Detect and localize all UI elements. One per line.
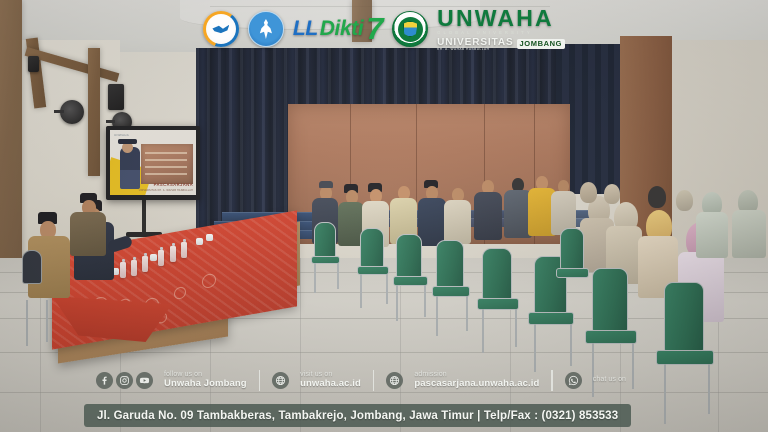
presentation-tv: UNWAHA PASCASARJANA UNIVERSITAS KH. A. W… xyxy=(106,126,200,200)
unwaha-universitas: UNIVERSITAS xyxy=(437,38,513,48)
panel-chair xyxy=(22,250,42,284)
cup xyxy=(206,234,213,241)
tut-wuri-handayani-logo xyxy=(248,11,284,47)
unwaha-tagline: GLOBAL UNIVERSITY xyxy=(437,31,533,35)
admission-url: pascasarjana.unwaha.ac.id xyxy=(414,379,539,389)
social-icon-group[interactable] xyxy=(96,372,153,389)
photo-slide: UNWAHA PASCASARJANA UNIVERSITAS KH. A. W… xyxy=(0,0,768,432)
unwaha-wordmark: UNWAHA GLOBAL UNIVERSITY UNIVERSITAS KH.… xyxy=(437,7,565,50)
contact-divider xyxy=(373,370,374,391)
facebook-icon[interactable] xyxy=(96,372,113,389)
admission-text-group: admission pascasarjana.unwaha.ac.id xyxy=(414,371,539,388)
whatsapp-icon[interactable] xyxy=(565,372,582,389)
social-text-group: follow us on Unwaha Jombang xyxy=(164,371,247,388)
screen-graduate-figure xyxy=(120,147,140,189)
screen-caption: PASCASARJANA xyxy=(154,183,193,187)
contact-bar: follow us on Unwaha Jombang visit us on … xyxy=(96,366,676,394)
website-text-group: visit us on unwaha.ac.id xyxy=(300,371,361,388)
screen-logo-text: UNWAHA xyxy=(114,133,129,137)
screen-graduation-cap xyxy=(118,139,137,144)
cup xyxy=(150,254,157,261)
wall-speaker xyxy=(108,84,124,110)
kampus-merdeka-logo xyxy=(203,11,239,47)
tutwuri-torch-icon xyxy=(258,19,274,39)
header-logo-bar: LLDikti 7 UNWAHA GLOBAL UNIVERSITY UNIVE… xyxy=(0,0,768,58)
lldikti-ll-text: LL xyxy=(293,17,318,41)
tv-screen: UNWAHA PASCASARJANA UNIVERSITAS KH. A. W… xyxy=(110,130,196,195)
cup xyxy=(196,238,203,245)
water-bottle xyxy=(181,242,187,258)
unwaha-title: UNWAHA xyxy=(437,7,554,30)
unwaha-shield-icon xyxy=(403,21,418,37)
water-bottle xyxy=(120,262,126,278)
whatsapp-text-group: chat us on xyxy=(593,376,626,383)
globe-icon[interactable] xyxy=(386,372,403,389)
social-handle: Unwaha Jombang xyxy=(164,379,247,389)
address-text: Jl. Garuda No. 09 Tambakberas, Tambakrej… xyxy=(97,410,618,422)
lldikti-dikti-text: Dikti xyxy=(320,17,364,41)
globe-icon[interactable] xyxy=(272,372,289,389)
contact-divider xyxy=(259,370,260,391)
merdeka-bird-icon xyxy=(212,24,229,35)
tv-stand xyxy=(142,200,146,234)
lldikti-number: 7 xyxy=(366,17,383,42)
water-bottle xyxy=(142,256,148,272)
water-bottle xyxy=(131,260,137,276)
instagram-icon[interactable] xyxy=(116,372,133,389)
screen-subcaption: UNIVERSITAS KH. A. WAHAB HASBULLAH xyxy=(139,189,193,192)
unwaha-emblem xyxy=(392,11,428,47)
screen-building-image xyxy=(141,144,193,184)
wooden-beam xyxy=(88,48,100,176)
water-bottle xyxy=(170,246,176,262)
youtube-icon[interactable] xyxy=(136,372,153,389)
contact-divider xyxy=(551,370,552,391)
lldikti-wordmark: LLDikti 7 xyxy=(293,17,383,42)
unwaha-jombang-badge: JOMBANG xyxy=(517,39,566,49)
website-url: unwaha.ac.id xyxy=(300,379,361,389)
water-bottle xyxy=(158,250,164,266)
wall-speaker xyxy=(28,56,39,72)
address-bar: Jl. Garuda No. 09 Tambakberas, Tambakrej… xyxy=(84,404,631,427)
chat-us-label: chat us on xyxy=(593,376,626,383)
